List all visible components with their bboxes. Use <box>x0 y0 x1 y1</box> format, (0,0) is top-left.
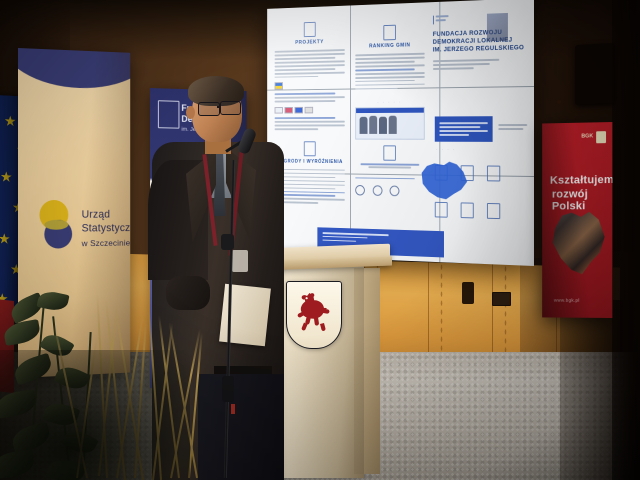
banner-shading <box>542 122 613 318</box>
name-badge <box>232 250 248 272</box>
speaker-led-icon <box>557 100 561 104</box>
zachodniopomorskie-coat-of-arms-icon <box>286 281 342 349</box>
plant-shadow-mass <box>0 350 190 480</box>
ear <box>186 106 195 119</box>
banner-bgk: BGK Kształtujemy rozwój Polski www.bgk.p… <box>542 122 613 318</box>
eyeglasses-right-lens-icon <box>220 101 241 115</box>
right-edge-shadow <box>612 0 640 480</box>
video-wall-display[interactable]: PROJEKTY <box>267 0 534 266</box>
microphone-base-clamp <box>222 376 234 402</box>
wall-fixture <box>462 282 474 304</box>
griffin-icon <box>295 289 333 339</box>
loudspeaker-icon <box>575 43 615 105</box>
eyeglasses-left-lens-icon <box>198 102 220 116</box>
video-wall-bezel <box>267 0 534 266</box>
foreground-plants <box>0 292 220 480</box>
microphone-indicator <box>231 404 235 414</box>
wall-socket-panel <box>492 292 511 306</box>
conference-photograph: PROJEKTY <box>0 0 640 480</box>
microphone-clamp <box>221 234 234 250</box>
eyeglasses-bridge <box>217 106 221 108</box>
